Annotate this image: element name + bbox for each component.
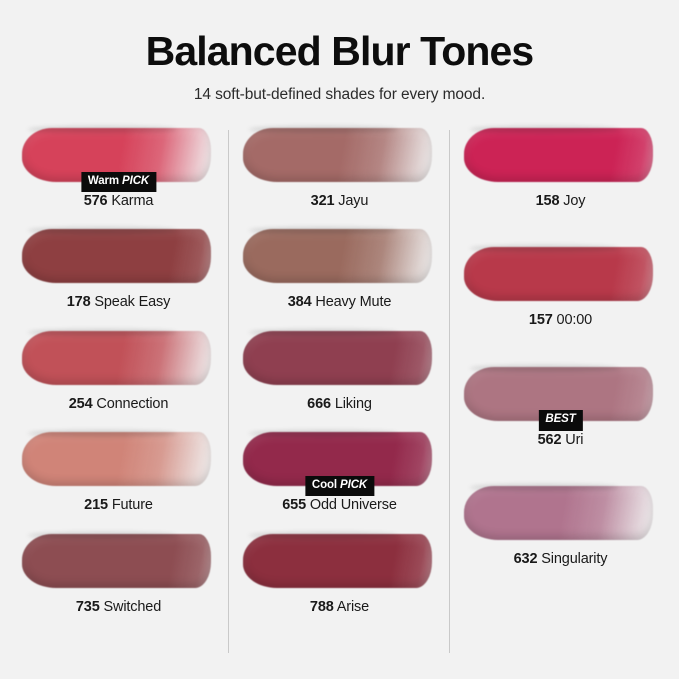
lipstick-swatch	[22, 229, 211, 283]
shade-badge: WarmPICK	[81, 172, 156, 193]
shade-name: Heavy Mute	[315, 294, 391, 310]
shade-code: 178	[67, 294, 91, 310]
shade-name: Joy	[563, 193, 585, 209]
lipstick-swatch	[464, 247, 653, 301]
swatch-wrap: WarmPICK	[18, 124, 219, 186]
shade-code: 632	[514, 551, 538, 567]
shade-name: Future	[112, 497, 153, 513]
swatch-wrap	[239, 225, 440, 287]
shade-code: 735	[76, 599, 100, 615]
badge-label-italic: PICK	[340, 479, 367, 491]
shade-code: 562	[538, 432, 562, 448]
shade-code: 576	[84, 193, 108, 209]
shade-item[interactable]: WarmPICK576 Karma	[8, 124, 229, 210]
shade-label: 384 Heavy Mute	[239, 294, 440, 311]
shade-name: Odd Universe	[310, 497, 397, 513]
shade-code: 655	[282, 497, 306, 513]
shade-label: 158 Joy	[460, 193, 661, 210]
shade-name: Connection	[96, 396, 168, 412]
shade-label: 178 Speak Easy	[18, 294, 219, 311]
swatch-wrap	[18, 530, 219, 592]
swatch-wrap	[460, 482, 661, 544]
shade-item[interactable]: 788 Arise	[229, 530, 450, 616]
lipstick-swatch	[22, 432, 211, 486]
swatch-wrap	[18, 428, 219, 490]
shade-item[interactable]: 215 Future	[8, 428, 229, 514]
shade-label: 321 Jayu	[239, 193, 440, 210]
shade-code: 788	[310, 599, 334, 615]
swatch-wrap	[18, 225, 219, 287]
lipstick-swatch	[243, 534, 432, 588]
shade-name: Speak Easy	[94, 294, 170, 310]
shade-label: 666 Liking	[239, 396, 440, 413]
lipstick-swatch	[243, 128, 432, 182]
page-title: Balanced Blur Tones	[0, 30, 679, 73]
shade-item[interactable]: 254 Connection	[8, 327, 229, 413]
shade-label: 562 Uri	[460, 432, 661, 449]
shade-grid: WarmPICK576 Karma178 Speak Easy254 Conne…	[0, 124, 679, 669]
swatch-wrap	[18, 327, 219, 389]
shade-item[interactable]: 735 Switched	[8, 530, 229, 616]
shade-badge: BEST	[538, 410, 582, 431]
badge-label-italic: BEST	[545, 413, 575, 425]
lipstick-swatch	[464, 128, 653, 182]
shade-code: 157	[529, 312, 553, 328]
shade-code: 158	[536, 193, 560, 209]
swatch-wrap: BEST	[460, 363, 661, 425]
shade-label: 735 Switched	[18, 599, 219, 616]
shade-label: 788 Arise	[239, 599, 440, 616]
swatch-wrap: CoolPICK	[239, 428, 440, 490]
shade-label: 254 Connection	[18, 396, 219, 413]
lipstick-swatch	[22, 331, 211, 385]
shade-item[interactable]: 158 Joy	[450, 124, 671, 210]
shade-code: 666	[307, 396, 331, 412]
shade-item[interactable]: 666 Liking	[229, 327, 450, 413]
swatch-wrap	[239, 124, 440, 186]
shade-name: Arise	[337, 599, 369, 615]
shade-item[interactable]: 157 00:00	[450, 243, 671, 329]
lipstick-swatch	[464, 486, 653, 540]
lipstick-swatch	[243, 229, 432, 283]
lipstick-swatch	[243, 331, 432, 385]
shade-item[interactable]: 178 Speak Easy	[8, 225, 229, 311]
shade-item[interactable]: BEST562 Uri	[450, 363, 671, 449]
swatch-wrap	[239, 530, 440, 592]
shade-code: 254	[69, 396, 93, 412]
shade-label: 215 Future	[18, 497, 219, 514]
shade-name: Uri	[565, 432, 583, 448]
shade-label: 655 Odd Universe	[239, 497, 440, 514]
shade-item[interactable]: 384 Heavy Mute	[229, 225, 450, 311]
swatch-wrap	[460, 124, 661, 186]
page-header: Balanced Blur Tones 14 soft-but-defined …	[0, 0, 679, 104]
shade-code: 321	[311, 193, 335, 209]
shade-name: Switched	[104, 599, 162, 615]
shade-label: 157 00:00	[460, 312, 661, 329]
swatch-wrap	[239, 327, 440, 389]
shade-label: 632 Singularity	[460, 551, 661, 568]
swatch-wrap	[460, 243, 661, 305]
shade-column-1: WarmPICK576 Karma178 Speak Easy254 Conne…	[8, 124, 229, 669]
lipstick-swatch	[22, 534, 211, 588]
shade-item[interactable]: 321 Jayu	[229, 124, 450, 210]
shade-code: 384	[288, 294, 312, 310]
shade-name: Jayu	[338, 193, 368, 209]
shade-chart-page: Balanced Blur Tones 14 soft-but-defined …	[0, 0, 679, 679]
badge-label-strong: Cool	[312, 479, 337, 491]
shade-item[interactable]: 632 Singularity	[450, 482, 671, 568]
shade-item[interactable]: CoolPICK655 Odd Universe	[229, 428, 450, 514]
shade-name: 00:00	[557, 312, 593, 328]
shade-badge: CoolPICK	[305, 476, 374, 497]
page-subtitle: 14 soft-but-defined shades for every moo…	[0, 86, 679, 104]
shade-column-3: 158 Joy157 00:00BEST562 Uri632 Singulari…	[450, 124, 671, 669]
shade-column-2: 321 Jayu384 Heavy Mute666 LikingCoolPICK…	[229, 124, 450, 669]
badge-label-strong: Warm	[88, 175, 119, 187]
badge-label-italic: PICK	[122, 175, 149, 187]
shade-name: Karma	[111, 193, 153, 209]
shade-code: 215	[84, 497, 108, 513]
shade-name: Liking	[335, 396, 372, 412]
shade-label: 576 Karma	[18, 193, 219, 210]
shade-name: Singularity	[541, 551, 607, 567]
